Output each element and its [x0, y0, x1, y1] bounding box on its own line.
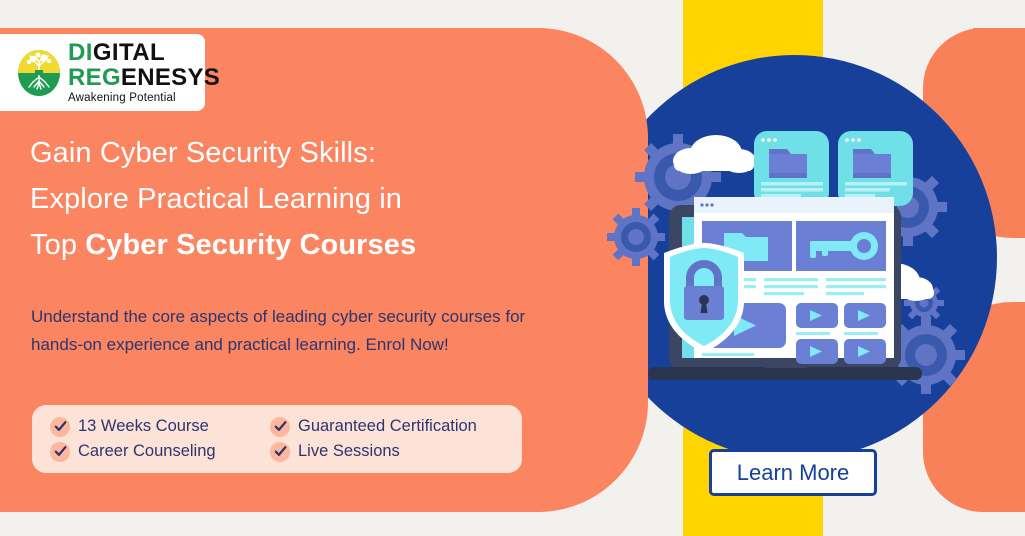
- brand-logo-text: DIGITAL REGENESYS Awakening Potential: [68, 41, 220, 105]
- feature-item: Live Sessions: [270, 442, 522, 462]
- document-card-icon: [754, 131, 829, 206]
- brand-logo[interactable]: DIGITAL REGENESYS Awakening Potential: [0, 34, 205, 111]
- cloud-icon: [673, 135, 756, 174]
- document-card-icon: [838, 131, 913, 206]
- feature-label: 13 Weeks Course: [78, 417, 209, 436]
- check-icon: [50, 442, 70, 462]
- video-play-icon: [844, 339, 886, 364]
- logo-line2-green: REG: [68, 64, 121, 91]
- video-play-icon: [796, 339, 838, 364]
- feature-item: Guaranteed Certification: [270, 417, 522, 437]
- video-play-icon: [796, 303, 838, 328]
- headline-line3-bold: Cyber Security Courses: [85, 229, 416, 261]
- subheading: Understand the core aspects of leading c…: [31, 303, 531, 358]
- headline-line-3: Top Cyber Security Courses: [30, 223, 550, 269]
- logo-line1-green: DI: [68, 39, 93, 66]
- check-icon: [50, 417, 70, 437]
- learn-more-button[interactable]: Learn More: [709, 449, 877, 496]
- headline: Gain Cyber Security Skills: Explore Prac…: [30, 131, 550, 268]
- tree-with-roots-icon: [17, 49, 61, 97]
- cyber-security-laptop-illustration: [606, 105, 986, 405]
- feature-label: Live Sessions: [298, 442, 400, 461]
- feature-label: Guaranteed Certification: [298, 417, 477, 436]
- check-icon: [270, 417, 290, 437]
- headline-line-1: Gain Cyber Security Skills:: [30, 131, 550, 177]
- check-icon: [270, 442, 290, 462]
- logo-tagline: Awakening Potential: [68, 93, 220, 105]
- feature-item: 13 Weeks Course: [50, 417, 270, 437]
- headline-line3-regular: Top: [30, 229, 85, 261]
- feature-item: Career Counseling: [50, 442, 270, 462]
- logo-line1-black: GITAL: [93, 39, 165, 66]
- features-box: 13 Weeks Course Guaranteed Certification…: [32, 405, 522, 473]
- logo-line2-black: ENESYS: [121, 64, 220, 91]
- feature-label: Career Counseling: [78, 442, 216, 461]
- headline-line-2: Explore Practical Learning in: [30, 177, 550, 223]
- video-play-icon: [844, 303, 886, 328]
- marketing-banner: DIGITAL REGENESYS Awakening Potential Ga…: [0, 0, 1025, 536]
